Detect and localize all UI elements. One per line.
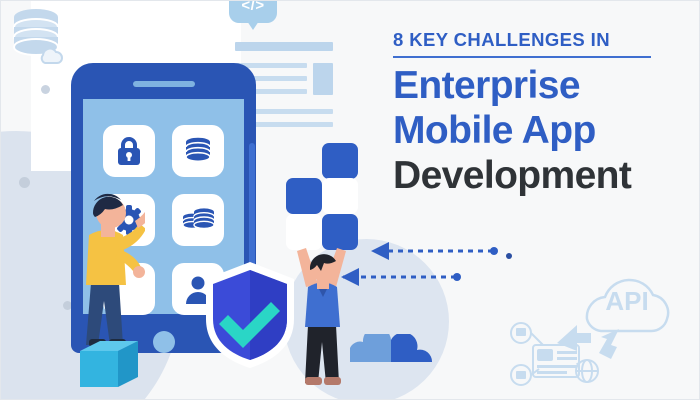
square-mid-right — [322, 178, 358, 214]
dashed-arrows-group — [341, 233, 521, 295]
cloud-shape — [350, 334, 432, 362]
infographic-banner: </> — [0, 0, 700, 400]
wireframe-heading-bar — [235, 42, 333, 51]
dashed-arrow-lower — [341, 268, 461, 286]
headline-kicker: 8 KEY CHALLENGES IN — [393, 29, 681, 51]
phone-speaker — [133, 81, 195, 87]
headline-line-2: Mobile App — [393, 108, 681, 153]
decor-dot — [19, 177, 30, 188]
headline-block: 8 KEY CHALLENGES IN Enterprise Mobile Ap… — [393, 29, 681, 198]
decor-dot — [41, 85, 50, 94]
headline-line-3: Development — [393, 153, 681, 198]
headline-line-1: Enterprise — [393, 63, 681, 108]
code-bubble-icon: </> — [229, 0, 277, 31]
dashed-arrow-upper — [371, 242, 498, 260]
code-glyph: </> — [229, 0, 277, 23]
headline-rule — [393, 56, 651, 58]
code-bubble-tail — [247, 21, 259, 30]
coins-stack-icon — [172, 194, 224, 246]
api-label: API — [605, 286, 648, 316]
lock-icon — [103, 125, 155, 177]
api-integration-illustration: API — [509, 263, 689, 398]
square-mid-left — [286, 178, 322, 214]
database-icon — [172, 125, 224, 177]
phone-home-button — [153, 331, 175, 353]
database-cloud-icon — [9, 7, 75, 69]
step-cube — [80, 339, 138, 387]
square-top — [322, 143, 358, 179]
wireframe-image-block — [313, 63, 333, 95]
